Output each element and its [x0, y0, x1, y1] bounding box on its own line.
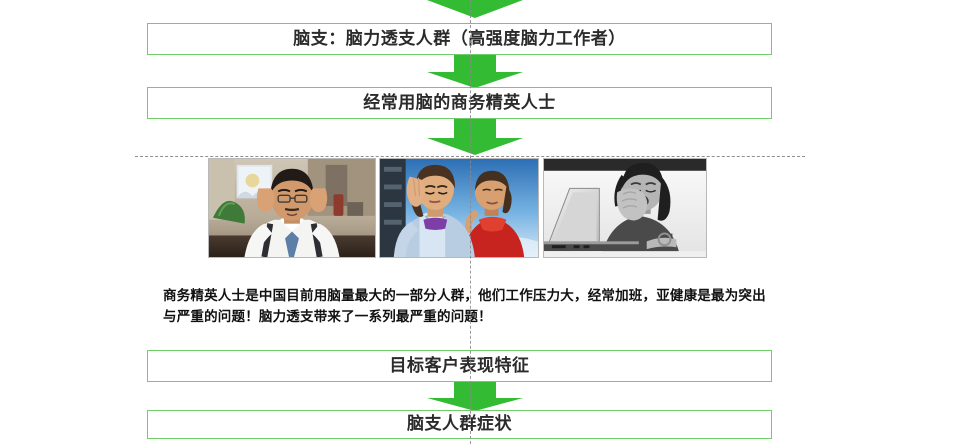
- down-arrow-1: [427, 55, 523, 88]
- flow-box-label: 经常用脑的商务精英人士: [363, 95, 556, 112]
- arrow-shaft: [454, 382, 496, 398]
- photo-two-women-outdoors-art: [380, 159, 538, 257]
- arrow-head: [427, 138, 523, 155]
- flow-box-label: 脑支：脑力透支人群（高强度脑力工作者）: [293, 31, 626, 48]
- arrow-shaft: [454, 55, 496, 72]
- flow-box-label: 目标客户表现特征: [390, 358, 530, 375]
- flow-box-business-elite[interactable]: 经常用脑的商务精英人士: [147, 87, 772, 119]
- photo-two-women-outdoors[interactable]: [379, 158, 539, 258]
- down-arrow-top: [427, 0, 523, 18]
- vertical-guide-line: [470, 0, 471, 444]
- photo-stressed-businessman[interactable]: [208, 158, 376, 258]
- down-arrow-2: [427, 119, 523, 155]
- flow-box-target-customer-traits[interactable]: 目标客户表现特征: [147, 350, 772, 382]
- flow-box-brain-overdraft-group[interactable]: 脑支：脑力透支人群（高强度脑力工作者）: [147, 23, 772, 55]
- flow-box-symptoms[interactable]: 脑支人群症状: [147, 410, 772, 439]
- flow-box-label: 脑支人群症状: [407, 416, 512, 433]
- arrow-shaft: [454, 119, 496, 138]
- arrow-head: [427, 0, 523, 18]
- photo-tired-woman-laptop-art: [544, 159, 706, 257]
- down-arrow-3: [427, 382, 523, 411]
- photo-tired-woman-laptop[interactable]: [543, 158, 707, 258]
- arrow-head: [427, 72, 523, 88]
- photo-stressed-businessman-art: [209, 159, 375, 257]
- slide-canvas: 脑支：脑力透支人群（高强度脑力工作者） 经常用脑的商务精英人士: [0, 0, 955, 444]
